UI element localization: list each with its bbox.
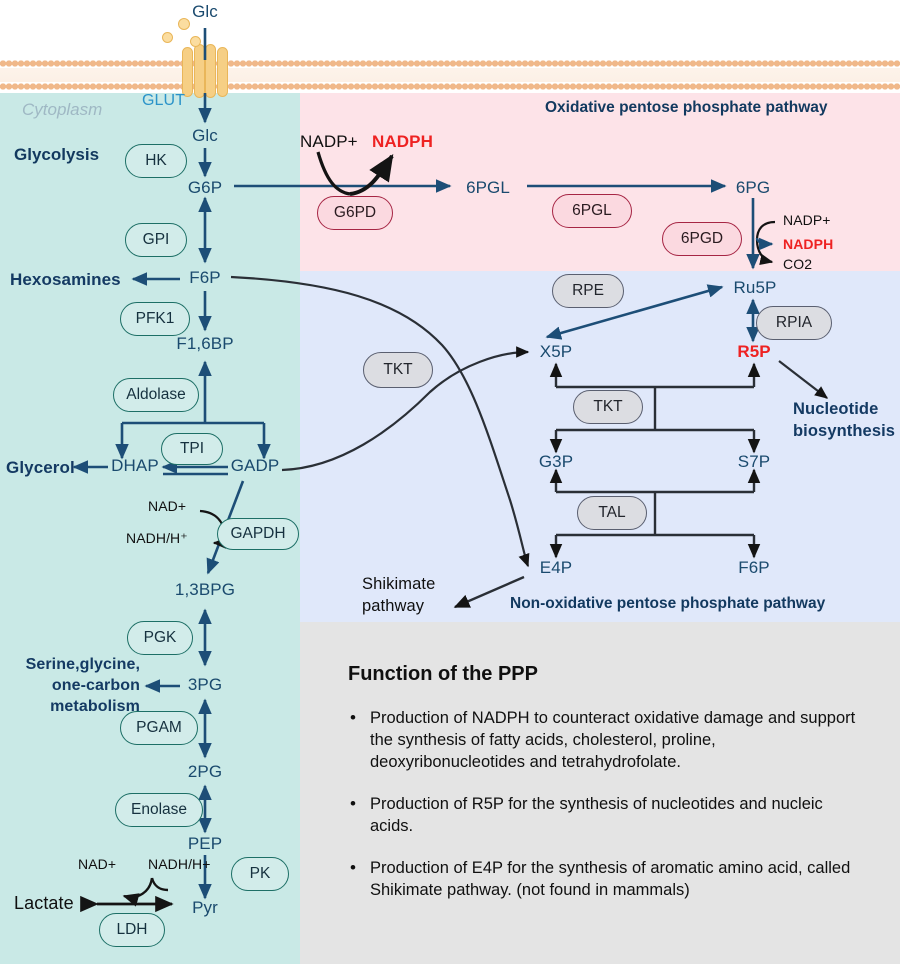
cofactor-nad-plus-gapdh: NAD+ [148, 498, 186, 514]
metabolite-r5p: R5P [737, 342, 770, 362]
function-bullet: Production of E4P for the synthesis of a… [348, 858, 868, 902]
enzyme-rpe[interactable]: RPE [552, 274, 624, 308]
enzyme-6pgd[interactable]: 6PGD [662, 222, 742, 256]
metabolite-lactate: Lactate [14, 893, 74, 914]
cofactor-nadh-gapdh: NADH/H⁺ [126, 530, 188, 547]
glycolysis-label: Glycolysis [14, 145, 99, 165]
pathway-diagram: Cytoplasm Glycolysis Oxidative pentose p… [0, 0, 900, 964]
metabolite-6pgl: 6PGL [466, 178, 510, 198]
enzyme-aldolase[interactable]: Aldolase [113, 378, 199, 412]
metabolite-6pg: 6PG [736, 178, 770, 198]
function-box-title: Function of the PPP [348, 663, 538, 686]
metabolite-e4p: E4P [540, 558, 572, 578]
metabolite-g3p: G3P [539, 452, 573, 472]
enzyme-enolase[interactable]: Enolase [115, 793, 203, 827]
cofactor-co2: CO2 [783, 256, 812, 272]
enzyme-tkt-left[interactable]: TKT [363, 352, 433, 388]
function-box-list: Production of NADPH to counteract oxidat… [348, 708, 868, 922]
output-glycerol: Glycerol [6, 458, 75, 478]
enzyme-tal[interactable]: TAL [577, 496, 647, 530]
output-serine-line2: one-carbon [52, 677, 140, 695]
enzyme-ldh[interactable]: LDH [99, 913, 165, 947]
cofactor-nadp-plus-6pgd: NADP+ [783, 212, 831, 228]
metabolite-glc-extracellular: Glc [192, 2, 218, 22]
enzyme-rpia[interactable]: RPIA [756, 306, 832, 340]
oxidative-ppp-title: Oxidative pentose phosphate pathway [545, 99, 828, 117]
output-nucleotide-line1: Nucleotide [793, 400, 878, 419]
metabolite-s7p: S7P [738, 452, 770, 472]
metabolite-pyr: Pyr [192, 898, 218, 918]
metabolite-gadp: GADP [231, 456, 280, 476]
enzyme-hk[interactable]: HK [125, 144, 187, 178]
enzyme-tkt-mid[interactable]: TKT [573, 390, 643, 424]
cofactor-nad-plus-ldh: NAD+ [78, 856, 116, 872]
metabolite-glc-cytoplasm: Glc [192, 126, 218, 146]
metabolite-x5p: X5P [540, 342, 572, 362]
enzyme-pgk[interactable]: PGK [127, 621, 193, 655]
metabolite-ru5p: Ru5P [734, 278, 777, 298]
metabolite-2pg: 2PG [188, 762, 222, 782]
cytoplasm-label: Cytoplasm [22, 100, 102, 120]
output-nucleotide-line2: biosynthesis [793, 422, 895, 441]
cofactor-nadh-ldh: NADH/H+ [148, 856, 211, 872]
metabolite-f6p: F6P [189, 268, 220, 288]
metabolite-pep: PEP [188, 834, 222, 854]
enzyme-g6pd[interactable]: G6PD [317, 196, 393, 230]
output-shikimate-line1: Shikimate [362, 575, 435, 594]
metabolite-f6p-ppp: F6P [738, 558, 769, 578]
output-serine-line1: Serine,glycine, [26, 656, 140, 674]
cofactor-nadph-g6pd: NADPH [372, 132, 433, 152]
metabolite-f16bp: F1,6BP [176, 334, 233, 354]
metabolite-3pg: 3PG [188, 675, 222, 695]
output-shikimate-line2: pathway [362, 597, 424, 616]
enzyme-pfk1[interactable]: PFK1 [120, 302, 190, 336]
cofactor-nadp-plus-g6pd: NADP+ [300, 132, 358, 152]
glut-label: GLUT [142, 92, 185, 110]
enzyme-gpi[interactable]: GPI [125, 223, 187, 257]
function-bullet: Production of R5P for the synthesis of n… [348, 794, 868, 838]
function-bullet: Production of NADPH to counteract oxidat… [348, 708, 868, 774]
enzyme-gapdh[interactable]: GAPDH [217, 518, 299, 550]
metabolite-13bpg: 1,3BPG [175, 580, 235, 600]
enzyme-pgam[interactable]: PGAM [120, 711, 198, 745]
enzyme-6pgl[interactable]: 6PGL [552, 194, 632, 228]
enzyme-tpi[interactable]: TPI [161, 433, 223, 465]
cofactor-nadph-6pgd: NADPH [783, 236, 833, 252]
nonoxidative-ppp-title: Non-oxidative pentose phosphate pathway [510, 595, 825, 613]
metabolite-dhap: DHAP [111, 456, 159, 476]
enzyme-pk[interactable]: PK [231, 857, 289, 891]
metabolite-g6p: G6P [188, 178, 222, 198]
output-hexosamines: Hexosamines [10, 270, 121, 290]
